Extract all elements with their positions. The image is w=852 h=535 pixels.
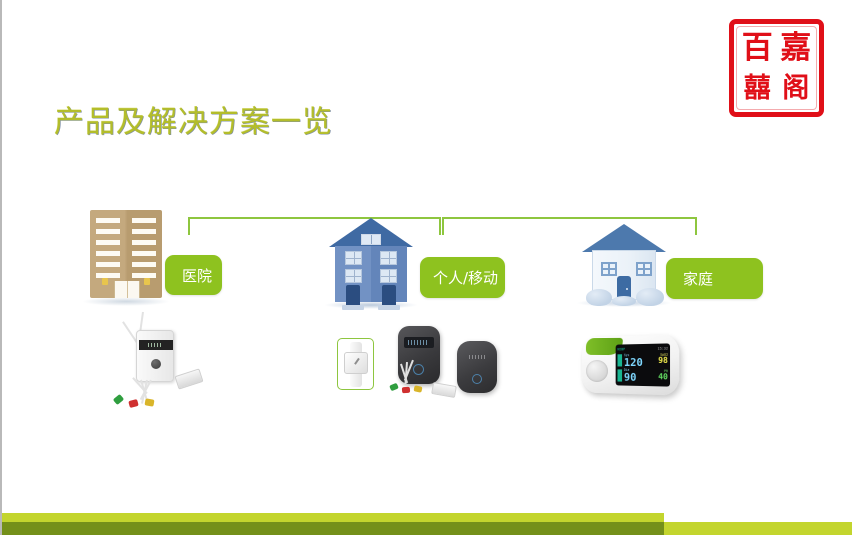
monitor-time: 15:32 xyxy=(658,346,668,350)
slide-title: 产品及解决方案一览 xyxy=(54,97,333,141)
portable-ecg-device xyxy=(457,341,497,393)
home-house-icon xyxy=(582,222,666,304)
handheld-patient-monitor: NIBP 15:32 Sys 120 Dia 90 SpO2 98 PR 40 xyxy=(578,336,678,398)
hospital-body xyxy=(90,210,162,298)
electrode-lead-red xyxy=(402,387,410,394)
electrode-lead-red xyxy=(128,399,139,408)
smart-watch-box xyxy=(337,338,374,390)
electrode-lead-green xyxy=(389,383,399,392)
footer-bar-dark xyxy=(2,522,664,535)
category-label-hospital: 医院 xyxy=(182,265,212,286)
seal-character-grid: 百 嘉 囍 阁 xyxy=(738,28,815,108)
category-pill-home[interactable]: 家庭 xyxy=(666,258,763,299)
house-roof xyxy=(582,224,666,252)
monitor-spo2-value: 98 xyxy=(658,357,668,366)
slide-canvas: 百 嘉 囍 阁 产品及解决方案一览 xyxy=(0,0,852,535)
ecg-power-button[interactable] xyxy=(472,374,482,384)
footer-bar-light-upper xyxy=(2,513,664,522)
holter-ecg-recorder xyxy=(102,310,214,415)
seal-char-4: 阁 xyxy=(777,68,816,108)
category-pill-personal-mobile[interactable]: 个人/移动 xyxy=(420,257,505,298)
monitor-waveform xyxy=(617,354,622,381)
electrode-lead-yellow xyxy=(144,398,154,406)
holter-unit xyxy=(136,330,174,382)
holter-button[interactable] xyxy=(151,359,161,369)
monitor-dia-value: 90 xyxy=(624,372,643,384)
duplex-shadow xyxy=(324,301,418,309)
hospital-building-icon xyxy=(90,210,162,302)
spo2-finger-clip xyxy=(174,368,203,389)
watch-face xyxy=(344,352,368,374)
monitor-knob[interactable] xyxy=(586,360,608,382)
duplex-attic-window xyxy=(361,234,381,245)
monitor-screen: NIBP 15:32 Sys 120 Dia 90 SpO2 98 PR 40 xyxy=(616,343,670,386)
monitor-pr-value: 40 xyxy=(658,373,668,382)
seal-char-1: 百 xyxy=(738,28,777,68)
ecg-shell xyxy=(457,341,497,393)
hospital-shadow xyxy=(82,297,170,306)
duplex-house-icon xyxy=(332,218,410,306)
electrode-lead-green xyxy=(113,394,124,405)
electrode-lead-yellow xyxy=(413,385,422,393)
monitor-module-label: NIBP xyxy=(617,347,625,351)
seal-char-3: 囍 xyxy=(738,68,777,108)
category-pill-hospital[interactable]: 医院 xyxy=(165,255,222,295)
device-logo xyxy=(469,355,485,359)
company-seal-stamp: 百 嘉 囍 阁 xyxy=(729,19,824,117)
ecg-display xyxy=(404,337,434,348)
ecg-lead-wires xyxy=(382,360,462,406)
footer-bar-light-right xyxy=(664,522,852,535)
holter-display xyxy=(139,340,173,350)
hospital-door xyxy=(114,281,140,298)
category-label-home: 家庭 xyxy=(683,268,713,289)
category-label-personal-mobile: 个人/移动 xyxy=(433,267,498,288)
seal-char-2: 嘉 xyxy=(777,28,816,68)
